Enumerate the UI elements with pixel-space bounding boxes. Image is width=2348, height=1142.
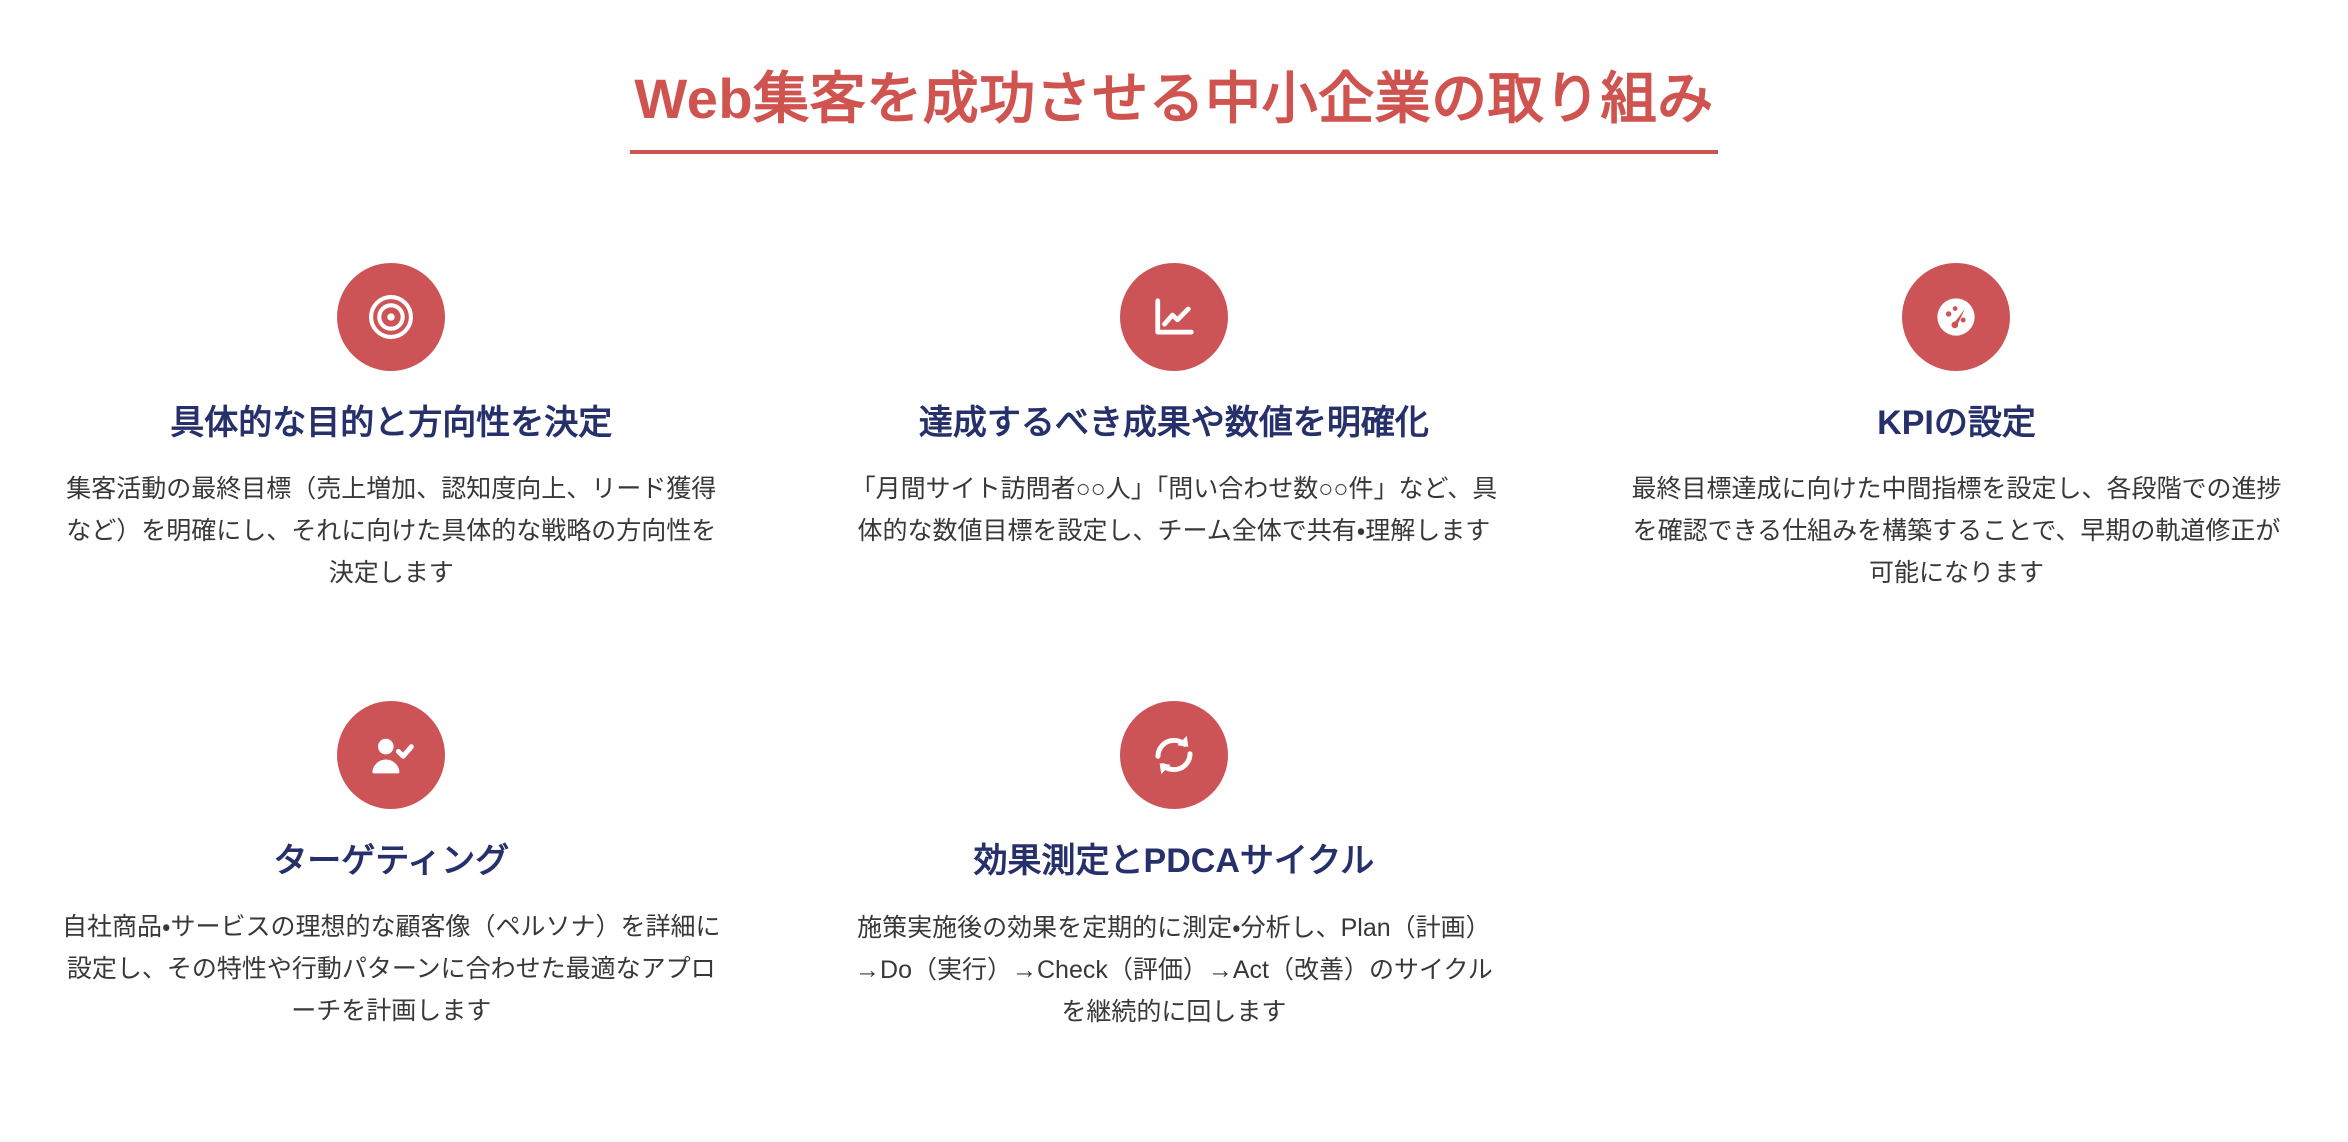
card-title: 具体的な目的と方向性を決定: [170, 401, 612, 445]
card-description: 最終目標達成に向けた中間指標を設定し、各段階での進捗を確認できる仕組みを構築する…: [1625, 469, 2288, 595]
card-item: 具体的な目的と方向性を決定 集客活動の最終目標（売上増加、認知度向上、リード獲得…: [0, 245, 783, 595]
card-title: KPIの設定: [1877, 401, 2036, 445]
card-grid: 具体的な目的と方向性を決定 集客活動の最終目標（売上増加、認知度向上、リード獲得…: [0, 245, 2348, 1103]
card-icon-badge: [1120, 263, 1228, 371]
line-chart-icon: [1148, 291, 1200, 343]
card-icon-badge: [337, 701, 445, 809]
page-title-container: Web集客を成功させる中小企業の取り組み: [0, 26, 2348, 191]
refresh-cycle-icon: [1148, 729, 1200, 781]
card-title: 効果測定とPDCAサイクル: [974, 839, 1375, 883]
card-description: 自社商品・サービスの理想的な顧客像（ペルソナ）を詳細に設定し、その特性や行動パタ…: [60, 907, 723, 1033]
card-description: 施策実施後の効果を定期的に測定・分析し、Plan（計画）→Do（実行）→Chec…: [843, 907, 1506, 1033]
infographic-page: Web集客を成功させる中小企業の取り組み 具体的な目的と方向性を決定 集客活動の…: [0, 0, 2348, 1142]
card-icon-badge: [1120, 701, 1228, 809]
card-description: 集客活動の最終目標（売上増加、認知度向上、リード獲得など）を明確にし、それに向け…: [60, 469, 723, 595]
card-icon-badge: [337, 263, 445, 371]
card-item: KPIの設定 最終目標達成に向けた中間指標を設定し、各段階での進捗を確認できる仕…: [1565, 245, 2348, 595]
page-title: Web集客を成功させる中小企業の取り組み: [630, 64, 1717, 154]
target-bullseye-icon: [365, 291, 417, 343]
gauge-speedometer-icon: [1930, 291, 1982, 343]
card-description: 「月間サイト訪問者○○人」「問い合わせ数○○件」など、具体的な数値目標を設定し、…: [843, 469, 1506, 553]
card-item: ターゲティング 自社商品・サービスの理想的な顧客像（ペルソナ）を詳細に設定し、そ…: [0, 683, 783, 1033]
card-icon-badge: [1902, 263, 2010, 371]
card-title: 達成するべき成果や数値を明確化: [919, 401, 1429, 445]
card-item: 効果測定とPDCAサイクル 施策実施後の効果を定期的に測定・分析し、Plan（計…: [783, 683, 1566, 1033]
user-check-icon: [365, 729, 417, 781]
card-item: 達成するべき成果や数値を明確化 「月間サイト訪問者○○人」「問い合わせ数○○件」…: [783, 245, 1566, 595]
card-title: ターゲティング: [273, 839, 509, 883]
